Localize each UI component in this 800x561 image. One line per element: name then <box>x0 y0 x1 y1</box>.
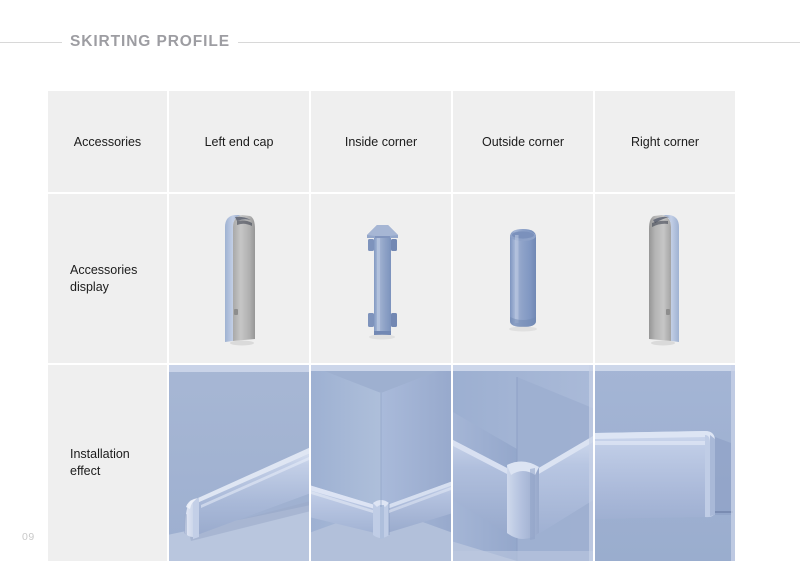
right-corner-installation <box>595 365 735 561</box>
row-label-line1: Accessories <box>70 262 137 279</box>
page-title: SKIRTING PROFILE <box>62 33 238 51</box>
row-label-accessories-display: Accessories display <box>48 194 167 363</box>
table-header-label: Inside corner <box>345 135 417 149</box>
row-label-line1: Installation <box>70 446 130 463</box>
table-header-outside-corner: Outside corner <box>453 91 593 192</box>
left-end-cap-illustration <box>211 209 267 349</box>
table-header-label: Right corner <box>631 135 699 149</box>
table-header-inside-corner: Inside corner <box>311 91 451 192</box>
left-end-cap-installation-photo <box>169 365 309 561</box>
row-label-line2: display <box>70 279 137 296</box>
left-end-cap-installation <box>169 365 309 561</box>
header-rule-left <box>0 42 62 43</box>
table-header-right-corner: Right corner <box>595 91 735 192</box>
left-end-cap-product <box>169 194 309 363</box>
inside-corner-product <box>311 194 451 363</box>
page-number: 09 <box>22 531 35 543</box>
table-header-label: Accessories <box>74 135 141 149</box>
inside-corner-illustration <box>346 209 416 349</box>
header-rule-right <box>238 42 800 43</box>
row-label-installation-effect: Installation effect <box>48 365 167 561</box>
accessories-table: Accessories Left end cap Inside corner O… <box>48 91 735 557</box>
right-corner-installation-photo <box>595 365 735 561</box>
table-header-left-end-cap: Left end cap <box>169 91 309 192</box>
row-label-line2: effect <box>70 463 130 480</box>
right-corner-illustration <box>637 209 693 349</box>
inside-corner-installation-photo <box>311 365 451 561</box>
table-header-accessories: Accessories <box>48 91 167 192</box>
table-header-label: Outside corner <box>482 135 564 149</box>
outside-corner-installation-photo <box>453 365 593 561</box>
outside-corner-illustration <box>493 209 553 349</box>
right-corner-product <box>595 194 735 363</box>
outside-corner-product <box>453 194 593 363</box>
inside-corner-installation <box>311 365 451 561</box>
table-header-label: Left end cap <box>205 135 274 149</box>
page-header: SKIRTING PROFILE <box>0 30 800 54</box>
outside-corner-installation <box>453 365 593 561</box>
